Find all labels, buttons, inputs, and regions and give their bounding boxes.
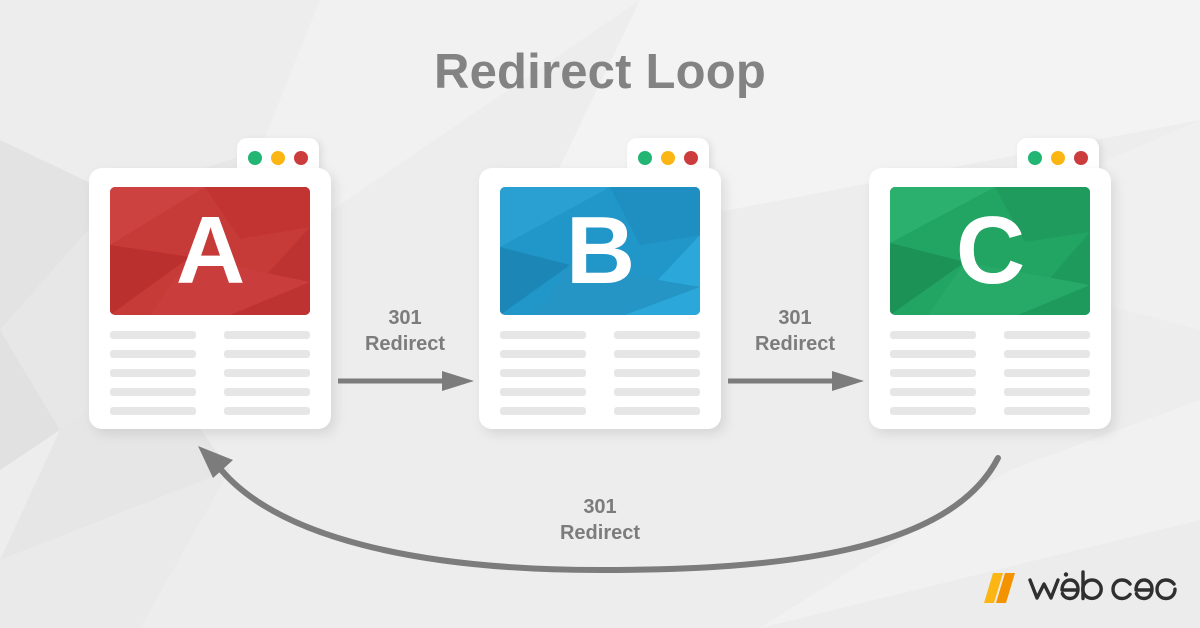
text-line bbox=[224, 331, 310, 339]
card-c-text-column-right bbox=[1004, 331, 1090, 415]
text-line bbox=[614, 388, 700, 396]
card-b-text-column-left bbox=[500, 331, 586, 415]
card-b-letter: B bbox=[500, 187, 700, 315]
card-b-hero-image: B bbox=[500, 187, 700, 315]
text-line bbox=[1004, 369, 1090, 377]
card-a-text-column-right bbox=[224, 331, 310, 415]
text-line bbox=[110, 350, 196, 358]
text-line bbox=[224, 388, 310, 396]
red-dot bbox=[684, 151, 698, 165]
text-line bbox=[614, 369, 700, 377]
arrow-right-icon bbox=[720, 370, 870, 392]
text-line bbox=[614, 331, 700, 339]
text-line bbox=[224, 350, 310, 358]
connector-b-to-c: 301 Redirect bbox=[720, 305, 870, 392]
text-line bbox=[614, 407, 700, 415]
card-c-hero-image: C bbox=[890, 187, 1090, 315]
card-a-text-column-left bbox=[110, 331, 196, 415]
card-b-tab-dots bbox=[638, 151, 698, 165]
text-line bbox=[500, 369, 586, 377]
text-line bbox=[890, 350, 976, 358]
text-line bbox=[500, 350, 586, 358]
card-a-text-lines bbox=[110, 331, 310, 415]
browser-card-a[interactable]: A bbox=[89, 138, 331, 429]
card-b-text-column-right bbox=[614, 331, 700, 415]
webceo-wordmark bbox=[1028, 570, 1178, 606]
text-line bbox=[110, 331, 196, 339]
text-line bbox=[500, 407, 586, 415]
card-c-body: C bbox=[869, 168, 1111, 429]
yellow-dot bbox=[271, 151, 285, 165]
card-c-text-column-left bbox=[890, 331, 976, 415]
card-a-tab-dots bbox=[248, 151, 308, 165]
text-line bbox=[890, 388, 976, 396]
text-line bbox=[890, 369, 976, 377]
red-dot bbox=[294, 151, 308, 165]
green-dot bbox=[1028, 151, 1042, 165]
text-line bbox=[1004, 388, 1090, 396]
card-a-body: A bbox=[89, 168, 331, 429]
text-line bbox=[1004, 350, 1090, 358]
text-line bbox=[500, 388, 586, 396]
infographic-canvas: Redirect Loop A bbox=[0, 0, 1200, 628]
yellow-dot bbox=[661, 151, 675, 165]
arrow-right-icon bbox=[330, 370, 480, 392]
connector-a-to-b-label: 301 Redirect bbox=[330, 305, 480, 358]
text-line bbox=[890, 331, 976, 339]
connector-b-to-c-label: 301 Redirect bbox=[720, 305, 870, 358]
text-line bbox=[1004, 331, 1090, 339]
text-line bbox=[500, 331, 586, 339]
card-c-tab-dots bbox=[1028, 151, 1088, 165]
webceo-logo[interactable] bbox=[984, 570, 1178, 606]
connector-c-to-a-label: 301 Redirect bbox=[500, 494, 700, 547]
webceo-slash-icon bbox=[984, 571, 1016, 605]
connector-a-to-b: 301 Redirect bbox=[330, 305, 480, 392]
card-a-letter: A bbox=[110, 187, 310, 315]
yellow-dot bbox=[1051, 151, 1065, 165]
card-b-text-lines bbox=[500, 331, 700, 415]
browser-card-c[interactable]: C bbox=[869, 138, 1111, 429]
text-line bbox=[1004, 407, 1090, 415]
card-c-letter: C bbox=[890, 187, 1090, 315]
browser-card-b[interactable]: B bbox=[479, 138, 721, 429]
text-line bbox=[224, 407, 310, 415]
green-dot bbox=[638, 151, 652, 165]
text-line bbox=[224, 369, 310, 377]
red-dot bbox=[1074, 151, 1088, 165]
text-line bbox=[614, 350, 700, 358]
card-c-text-lines bbox=[890, 331, 1090, 415]
text-line bbox=[110, 388, 196, 396]
text-line bbox=[110, 369, 196, 377]
text-line bbox=[110, 407, 196, 415]
green-dot bbox=[248, 151, 262, 165]
page-title: Redirect Loop bbox=[0, 44, 1200, 100]
card-a-hero-image: A bbox=[110, 187, 310, 315]
card-b-body: B bbox=[479, 168, 721, 429]
text-line bbox=[890, 407, 976, 415]
